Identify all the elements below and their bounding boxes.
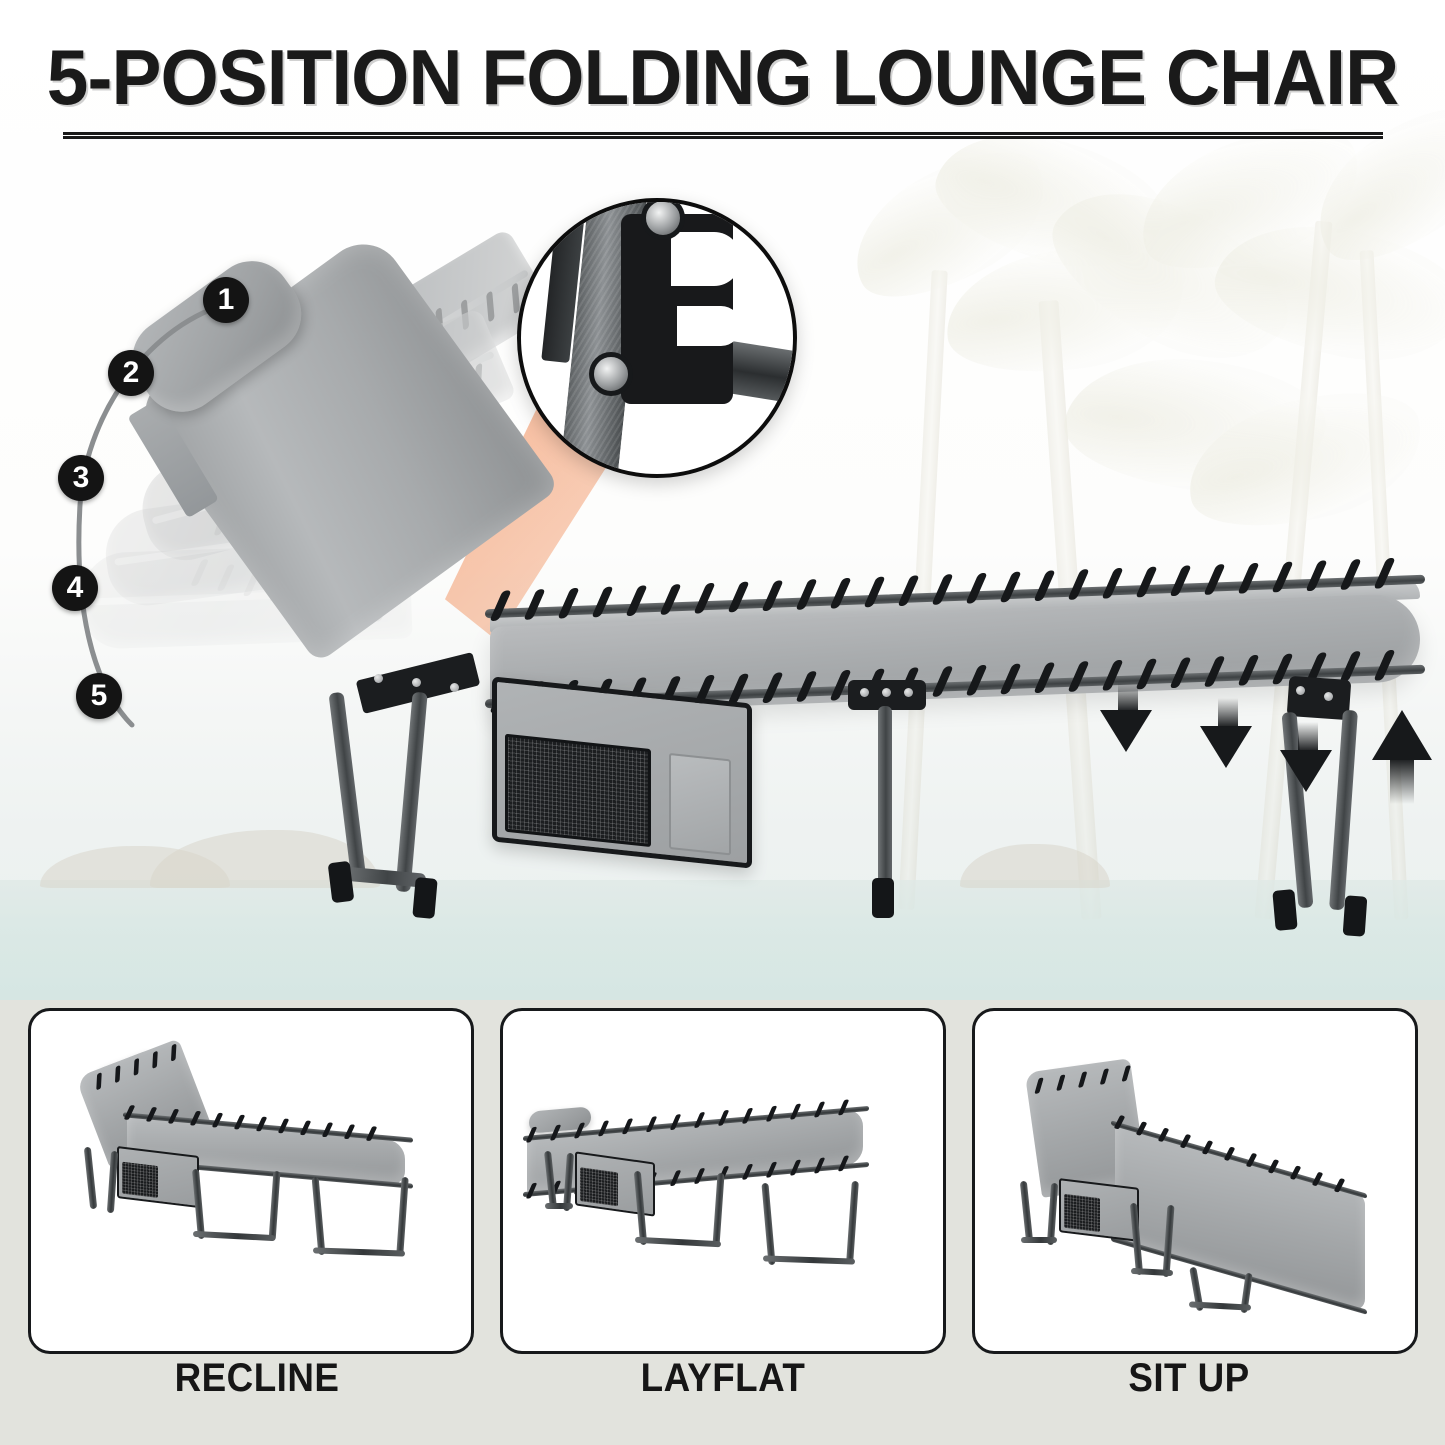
main-chair-illustration: [300, 330, 1420, 930]
chair-recline-illustration: KingCamp: [31, 1011, 471, 1351]
hinge-bolt: [374, 674, 383, 683]
title-underline: [63, 132, 1383, 139]
product-infographic: 5-POSITION FOLDING LOUNGE CHAIR: [0, 0, 1445, 1445]
mode-label-recline: RECLINE: [54, 1356, 459, 1401]
rear-leg-bracket: [1287, 676, 1352, 720]
rear-leg: [1329, 710, 1358, 911]
ratchet-bracket-callout: [517, 198, 797, 478]
footrest-pad: [1115, 1123, 1365, 1313]
leg-foot-cap: [872, 878, 894, 918]
leg-foot-cap: [328, 861, 355, 903]
front-leg-crossbar: [340, 866, 427, 887]
center-leg: [712, 1173, 724, 1247]
front-leg: [1019, 1181, 1032, 1243]
front-leg: [83, 1147, 96, 1209]
modes-section: KingCamp: [0, 1000, 1445, 1445]
mode-label-layflat: LAYFLAT: [520, 1356, 925, 1401]
rear-bracket-bolt: [1324, 692, 1333, 701]
mode-label-sit-up: SIT UP: [986, 1356, 1391, 1401]
rear-leg: [761, 1183, 775, 1265]
leg-crossbar: [545, 1203, 573, 1209]
page-title: 5-POSITION FOLDING LOUNGE CHAIR: [29, 38, 1416, 116]
callout-notch: [671, 232, 741, 286]
chair-layflat-illustration: [503, 1011, 943, 1351]
front-leg: [395, 692, 427, 893]
callout-bolt-top: [641, 198, 685, 240]
leg-foot-cap: [412, 877, 437, 919]
center-bracket-bolt: [882, 688, 891, 697]
center-leg: [878, 706, 892, 886]
rear-leg: [311, 1177, 325, 1255]
leg-crossbar: [634, 1237, 720, 1247]
mode-card-layflat[interactable]: [500, 1008, 946, 1354]
position-badge-1: 1: [203, 277, 249, 323]
mesh-pocket: [580, 1167, 618, 1206]
side-storage-pocket: [117, 1146, 199, 1208]
leg-crossbar: [312, 1247, 404, 1256]
leg-crossbar: [192, 1231, 274, 1241]
front-leg: [328, 692, 366, 882]
side-storage-pocket: [492, 676, 752, 868]
leg-crossbar: [1130, 1268, 1172, 1276]
center-bracket-bolt: [860, 688, 869, 697]
mode-cards: KingCamp: [0, 1008, 1445, 1348]
rear-bracket-bolt: [1296, 686, 1305, 695]
side-storage-pocket: [1059, 1178, 1139, 1242]
leg-crossbar: [1021, 1237, 1057, 1243]
leg-foot-cap: [1343, 895, 1368, 936]
slot-pocket: [669, 753, 731, 856]
mode-card-recline[interactable]: KingCamp: [28, 1008, 474, 1354]
position-badge-3: 3: [58, 455, 104, 501]
position-badge-5: 5: [76, 673, 122, 719]
callout-bolt-bottom: [589, 352, 633, 396]
center-leg: [268, 1171, 280, 1241]
rear-leg: [396, 1177, 408, 1255]
hero-section: 5-POSITION FOLDING LOUNGE CHAIR: [0, 0, 1445, 1000]
hinge-bolt: [450, 683, 459, 692]
page-title-block: 5-POSITION FOLDING LOUNGE CHAIR: [0, 38, 1445, 139]
rear-leg: [846, 1181, 859, 1263]
position-badge-2: 2: [108, 350, 154, 396]
position-badge-4: 4: [52, 565, 98, 611]
leg-foot-cap: [1272, 889, 1297, 931]
leg-crossbar: [762, 1255, 854, 1264]
mesh-pocket: [1064, 1194, 1100, 1232]
chair-sit-up-illustration: KingCamp: [975, 1011, 1415, 1351]
mode-card-sit-up[interactable]: KingCamp: [972, 1008, 1418, 1354]
position-arc: 1 2 3 4 5: [40, 255, 330, 745]
mesh-pocket: [122, 1162, 158, 1198]
center-bracket-bolt: [904, 688, 913, 697]
mesh-pocket: [505, 734, 651, 847]
callout-notch: [677, 306, 741, 346]
hinge-bolt: [412, 678, 421, 687]
